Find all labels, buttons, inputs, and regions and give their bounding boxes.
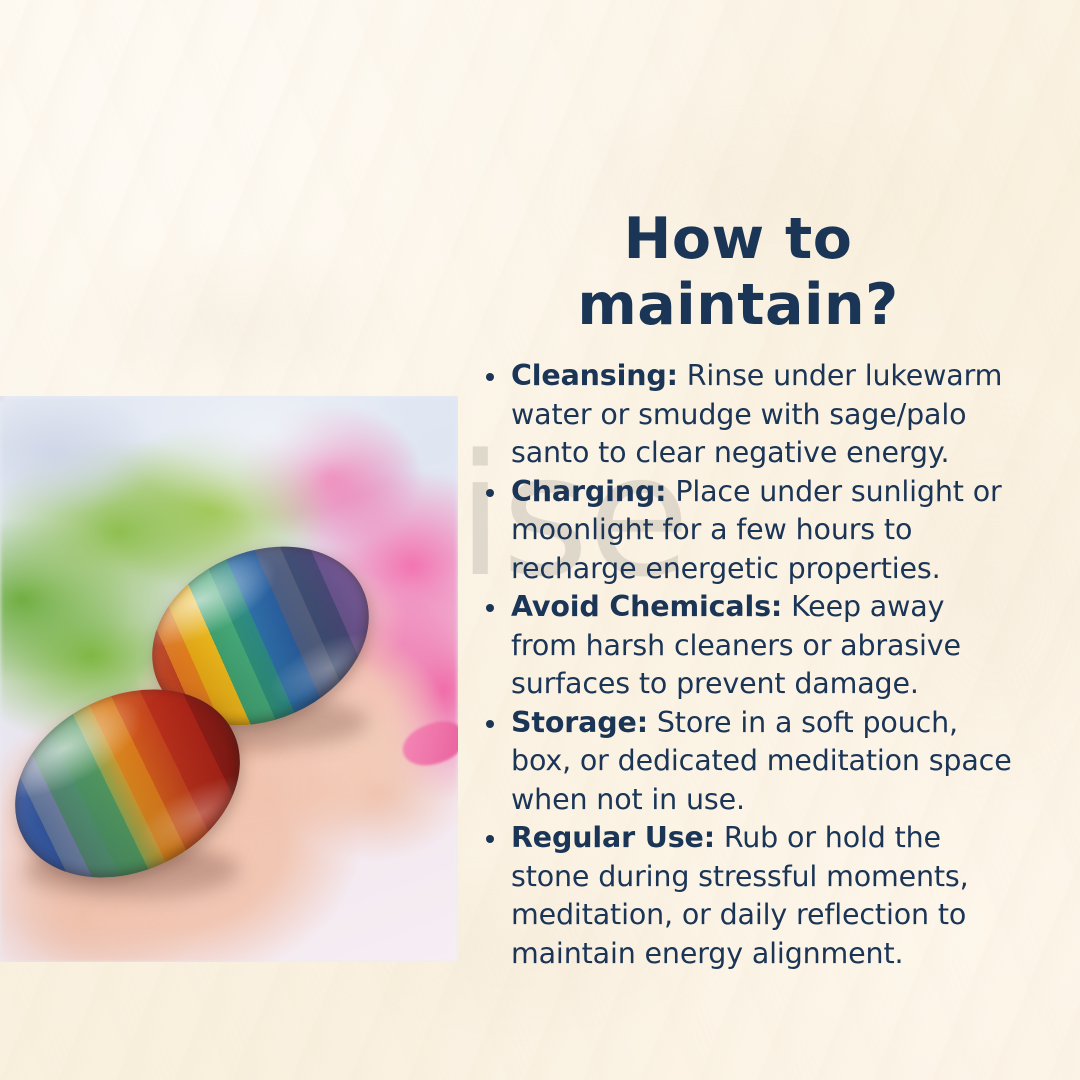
poster-canvas: soulwise How to maintain? Cleansing: Rin… bbox=[0, 0, 1080, 1080]
tip-term: Avoid Chemicals: bbox=[511, 590, 782, 623]
tip-item: Regular Use: Rub or hold the stone durin… bbox=[478, 819, 1018, 973]
bullet-dot-icon bbox=[486, 373, 494, 381]
tip-term: Storage: bbox=[511, 706, 648, 739]
page-title: How to maintain? bbox=[458, 206, 1018, 338]
tip-term: Regular Use: bbox=[511, 821, 715, 854]
bullet-dot-icon bbox=[486, 835, 494, 843]
bullet-dot-icon bbox=[486, 720, 494, 728]
bullet-dot-icon bbox=[486, 489, 494, 497]
product-photo bbox=[0, 396, 458, 962]
tip-item: Avoid Chemicals: Keep away from harsh cl… bbox=[478, 588, 1018, 704]
tip-item: Charging: Place under sunlight or moonli… bbox=[478, 473, 1018, 589]
tip-term: Charging: bbox=[511, 475, 666, 508]
maintenance-tips-list: Cleansing: Rinse under lukewarm water or… bbox=[478, 357, 1018, 973]
tip-item: Cleansing: Rinse under lukewarm water or… bbox=[478, 357, 1018, 473]
tip-term: Cleansing: bbox=[511, 359, 678, 392]
bullet-dot-icon bbox=[486, 604, 494, 612]
tip-item: Storage: Store in a soft pouch, box, or … bbox=[478, 704, 1018, 820]
